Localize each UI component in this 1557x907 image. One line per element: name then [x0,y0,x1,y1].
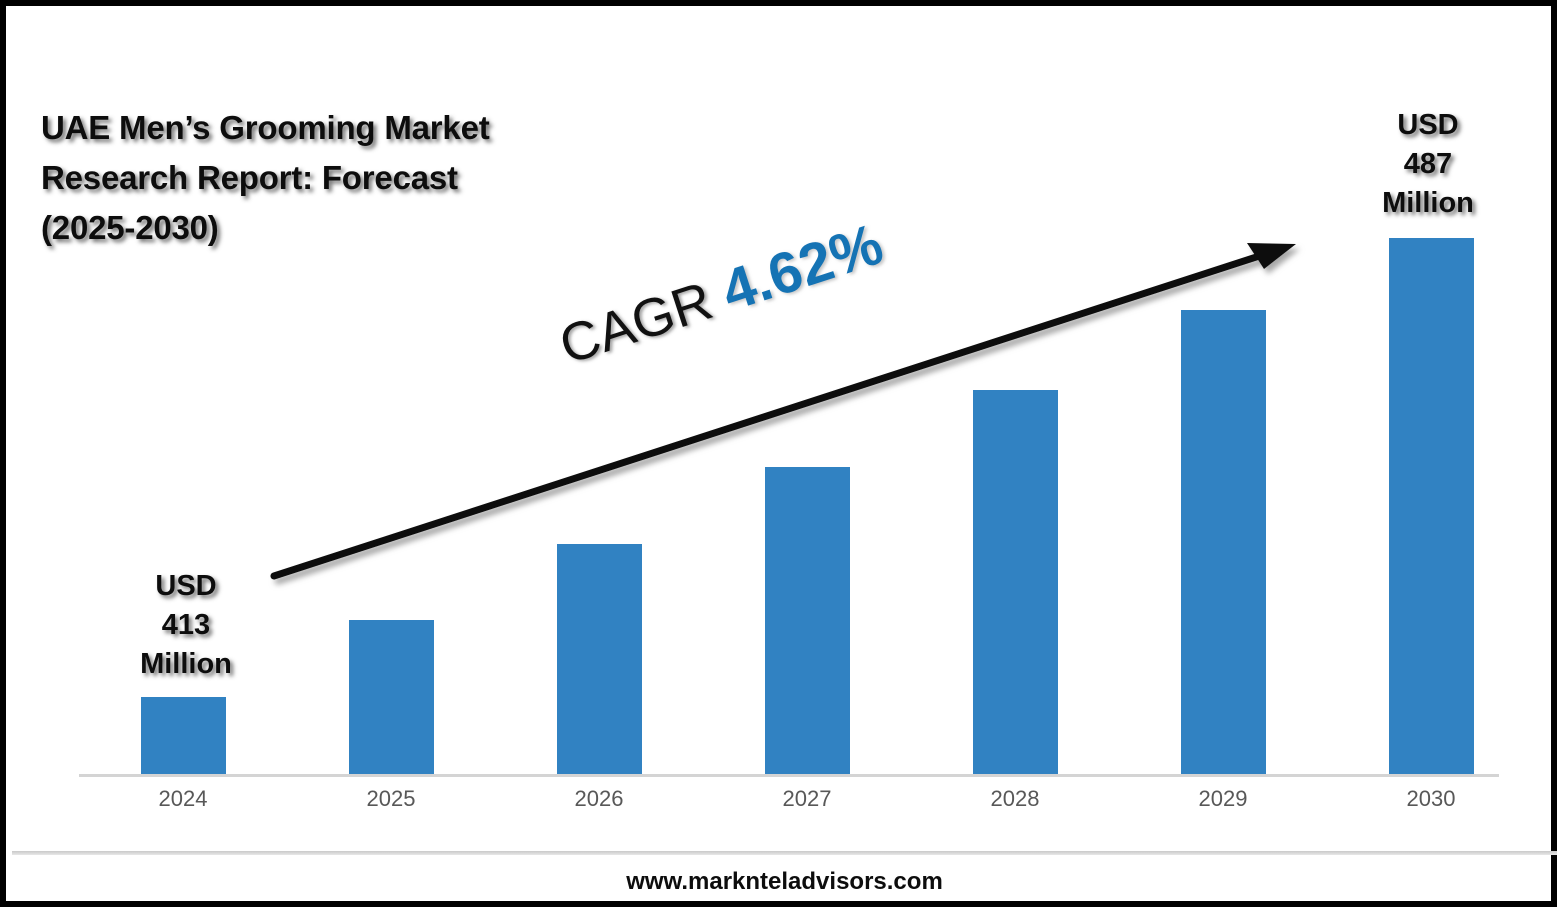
x-axis-tick-2024: 2024 [113,786,253,812]
bar-2028[interactable] [973,390,1058,774]
x-axis-tick-2025: 2025 [321,786,461,812]
footer-divider [12,851,1557,855]
end-value-currency: USD [1338,106,1518,145]
x-axis-tick-2027: 2027 [737,786,877,812]
end-value-number: 487 [1338,145,1518,184]
end-value-unit: Million [1338,184,1518,223]
x-axis-line [79,774,1499,777]
x-axis-tick-2028: 2028 [945,786,1085,812]
bar-2029[interactable] [1181,310,1266,774]
bar-2027[interactable] [765,467,850,774]
page-title-line-2: Research Report: Forecast [41,153,681,203]
chart-frame: UAE Men’s Grooming Market Research Repor… [0,0,1557,907]
end-value-callout: USD 487 Million [1338,106,1518,223]
bar-2024[interactable] [141,697,226,774]
bar-2030[interactable] [1389,238,1474,774]
x-axis-tick-2030: 2030 [1361,786,1501,812]
page-title-line-1: UAE Men’s Grooming Market [41,103,681,153]
footer-website-url: www.marknteladvisors.com [12,868,1557,896]
bar-2026[interactable] [557,544,642,774]
x-axis-tick-2029: 2029 [1153,786,1293,812]
bar-2025[interactable] [349,620,434,774]
x-axis-tick-2026: 2026 [529,786,669,812]
